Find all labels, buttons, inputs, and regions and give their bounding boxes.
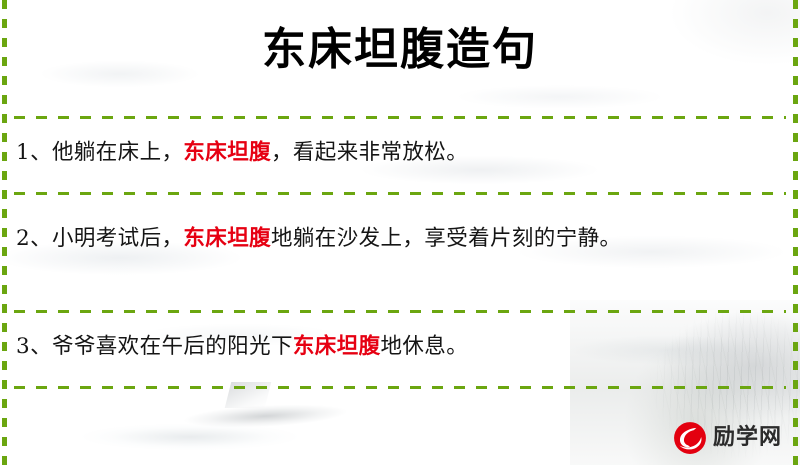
sentence-2-text-after: 地躺在沙发上，享受着片刻的宁静。 xyxy=(271,226,621,251)
divider-top xyxy=(14,116,786,119)
sentence-1-idiom-highlight: 东床坦腹 xyxy=(183,140,271,165)
site-logo[interactable]: 励学网 xyxy=(673,421,782,455)
sentence-1-text-before: 他躺在床上， xyxy=(52,140,183,165)
page-title: 东床坦腹造句 xyxy=(0,22,800,78)
sentence-3-idiom-highlight: 东床坦腹 xyxy=(293,334,381,359)
sentence-item-1: 1、他躺在床上，东床坦腹，看起来非常放松。 xyxy=(16,133,782,172)
divider-bottom xyxy=(14,386,786,389)
sentence-1-number: 1、 xyxy=(16,140,52,165)
sentence-2-text-before: 小明考试后， xyxy=(52,226,183,251)
divider-between-1-and-2 xyxy=(14,192,786,195)
site-logo-text: 励学网 xyxy=(713,427,782,449)
sentence-3-number: 3、 xyxy=(16,334,52,359)
sentence-2-number: 2、 xyxy=(16,226,52,251)
dashed-border-right xyxy=(793,0,798,465)
sentence-item-3: 3、爷爷喜欢在午后的阳光下东床坦腹地休息。 xyxy=(16,327,782,366)
sentence-1-text-after: ，看起来非常放松。 xyxy=(271,140,468,165)
dashed-border-left xyxy=(2,0,7,465)
sentence-item-2: 2、小明考试后，东床坦腹地躺在沙发上，享受着片刻的宁静。 xyxy=(16,219,782,258)
sentence-2-idiom-highlight: 东床坦腹 xyxy=(183,226,271,251)
worksheet-page: 东床坦腹造句 1、他躺在床上，东床坦腹，看起来非常放松。 2、小明考试后，东床坦… xyxy=(0,0,800,465)
divider-between-2-and-3 xyxy=(14,310,786,313)
sentence-3-text-before: 爷爷喜欢在午后的阳光下 xyxy=(52,334,293,359)
content-area: 东床坦腹造句 1、他躺在床上，东床坦腹，看起来非常放松。 2、小明考试后，东床坦… xyxy=(0,0,800,465)
sentence-3-text-after: 地休息。 xyxy=(381,334,469,359)
red-swirl-flame-icon xyxy=(673,421,707,455)
